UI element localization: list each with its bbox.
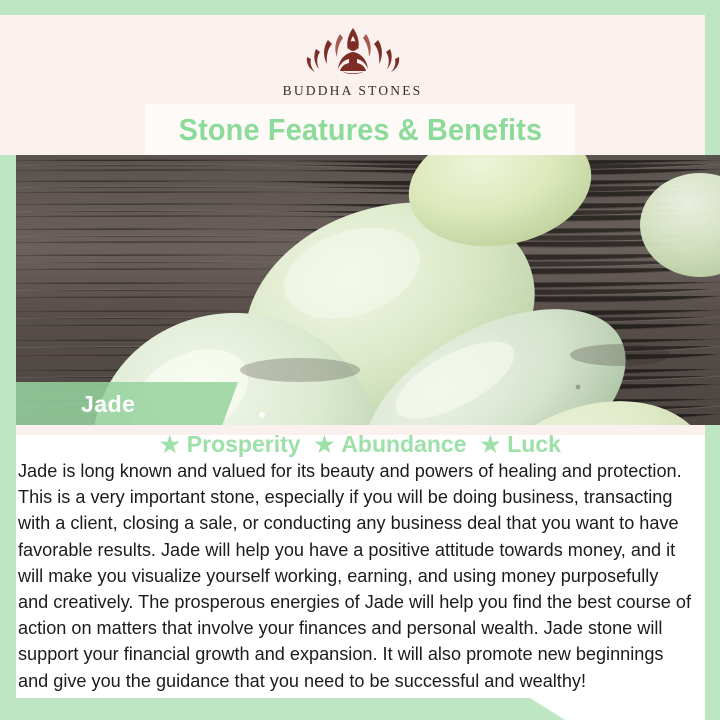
benefit-item-luck: ★ Luck [481, 431, 561, 458]
brand-header: BUDDHA STONES [0, 15, 705, 107]
benefit-item-prosperity: ★ Prosperity [160, 431, 301, 458]
decorative-frame-top [0, 0, 720, 15]
brand-name: BUDDHA STONES [283, 83, 423, 99]
benefits-list: ★ Prosperity ★ Abundance ★ Luck [16, 431, 705, 458]
benefit-item-abundance: ★ Abundance [315, 431, 467, 458]
star-icon: ★ [160, 434, 180, 456]
infographic-card: BUDDHA STONES Stone Features & Benefits [0, 0, 720, 720]
benefit-label: Abundance [341, 431, 466, 458]
benefit-label: Luck [507, 431, 561, 458]
star-icon: ★ [481, 434, 501, 456]
stone-name: Jade [81, 391, 135, 418]
star-icon: ★ [315, 434, 335, 456]
brand-logo: BUDDHA STONES [283, 24, 423, 99]
decorative-frame-left [0, 155, 16, 720]
decorative-frame-bottom [0, 698, 565, 720]
page-title: Stone Features & Benefits [178, 112, 542, 148]
stone-description: Jade is long known and valued for its be… [18, 458, 692, 694]
stone-name-label: Jade [16, 382, 238, 426]
lotus-meditation-icon [300, 24, 406, 82]
title-banner: Stone Features & Benefits [145, 104, 575, 155]
benefit-label: Prosperity [187, 431, 301, 458]
